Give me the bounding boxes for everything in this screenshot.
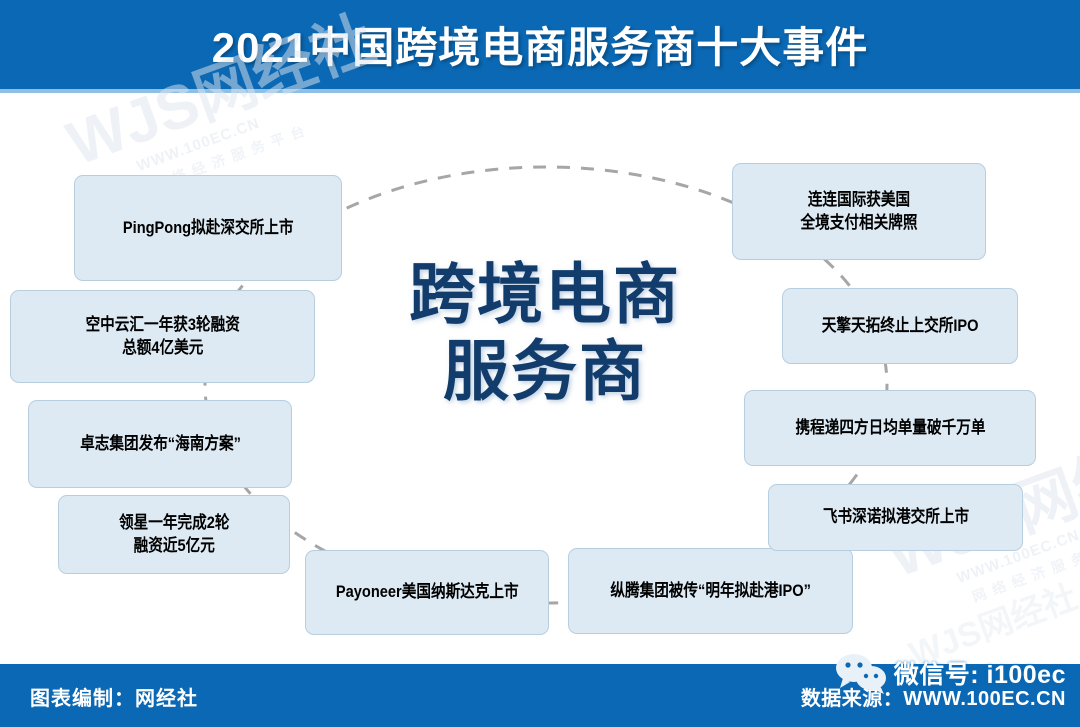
header-bar: 2021中国跨境电商服务商十大事件 [0,0,1080,89]
event-box-xiecheng[interactable]: 携程递四方日均单量破千万单 [744,390,1036,466]
wechat-icon [833,652,889,694]
event-text: 空中云汇一年获3轮融资 总额4亿美元 [85,314,239,360]
event-text: 携程递四方日均单量破千万单 [795,417,985,440]
event-box-lingxing[interactable]: 领星一年完成2轮 融资近5亿元 [58,495,290,574]
event-text: 飞书深诺拟港交所上市 [822,506,968,529]
event-box-payoneer[interactable]: Payoneer美国纳斯达克上市 [305,550,549,635]
event-box-zongteng[interactable]: 纵腾集团被传“明年拟赴港IPO” [568,548,853,634]
footer-credit: 图表编制：网经社 [30,682,198,711]
event-text: 领星一年完成2轮 融资近5亿元 [119,512,229,558]
event-text: PingPong拟赴深交所上市 [123,217,294,240]
event-box-pingpong[interactable]: PingPong拟赴深交所上市 [74,175,342,281]
event-box-feishu[interactable]: 飞书深诺拟港交所上市 [768,484,1023,551]
page-title: 2021中国跨境电商服务商十大事件 [212,14,868,75]
event-box-zhuozhi[interactable]: 卓志集团发布“海南方案” [28,400,292,488]
header-underline [0,89,1080,93]
event-text: 卓志集团发布“海南方案” [80,433,241,456]
wechat-badge[interactable]: 微信号: i100ec [833,652,1066,694]
center-label-line1: 跨境电商 [360,256,730,333]
center-label: 跨境电商 服务商 [360,256,730,410]
event-box-lianlian[interactable]: 连连国际获美国 全境支付相关牌照 [732,163,986,260]
wechat-label: 微信号: i100ec [894,655,1066,691]
event-text: 天擎天拓终止上交所IPO [822,315,979,338]
event-box-airwallex[interactable]: 空中云汇一年获3轮融资 总额4亿美元 [10,290,315,383]
infographic-canvas: 2021中国跨境电商服务商十大事件 WJS网经社 WWW.100EC.CN 网络… [0,0,1080,727]
event-text: 纵腾集团被传“明年拟赴港IPO” [610,580,811,603]
event-box-tianqing[interactable]: 天擎天拓终止上交所IPO [782,288,1018,364]
center-label-line2: 服务商 [360,333,730,410]
event-text: Payoneer美国纳斯达克上市 [336,581,519,604]
event-text: 连连国际获美国 全境支付相关牌照 [801,189,918,235]
